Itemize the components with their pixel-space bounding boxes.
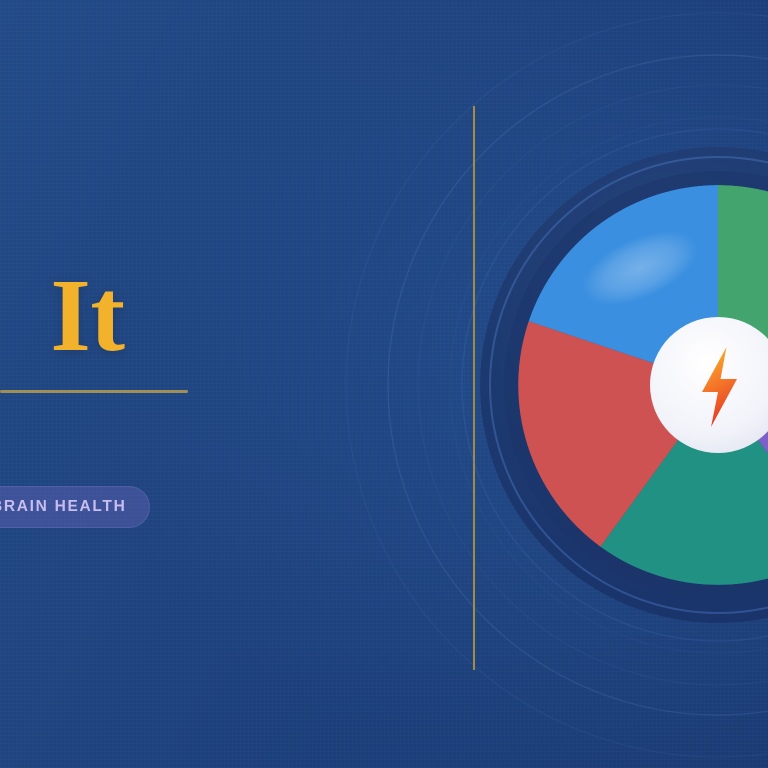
- background-texture: [0, 0, 768, 768]
- segment-purple[interactable]: [718, 385, 768, 547]
- wheel-bezel-inner: [504, 171, 768, 599]
- headline-accent-text: It: [50, 258, 124, 373]
- wheel-bezel: [480, 147, 768, 623]
- wheel-bezel-highlight: [490, 157, 768, 613]
- status-badge-label: BRAIN HEALTH: [0, 498, 127, 516]
- hero-banner: hinkIt BRAIN HEALTH In less time.: [0, 0, 768, 768]
- background-arc-decoration: [0, 0, 768, 768]
- wheel-hub[interactable]: [650, 317, 768, 453]
- segment-teal[interactable]: [600, 385, 768, 585]
- headline-underline-rule: [0, 390, 188, 393]
- status-badge[interactable]: BRAIN HEALTH: [0, 486, 150, 528]
- hero-copy: hinkIt: [0, 262, 410, 370]
- segment-red[interactable]: [518, 321, 718, 547]
- gloss-highlight-ellipse: [571, 215, 709, 320]
- segment-blue[interactable]: [529, 185, 718, 385]
- segment-green[interactable]: [718, 185, 768, 447]
- wheel-segments[interactable]: [518, 185, 768, 585]
- page-title: hinkIt: [0, 262, 410, 370]
- lightning-bolt-icon: [702, 347, 737, 427]
- gold-vertical-divider: [473, 106, 475, 670]
- spin-wheel-graphic[interactable]: [450, 115, 768, 655]
- wheel-outer-rings: [450, 117, 768, 653]
